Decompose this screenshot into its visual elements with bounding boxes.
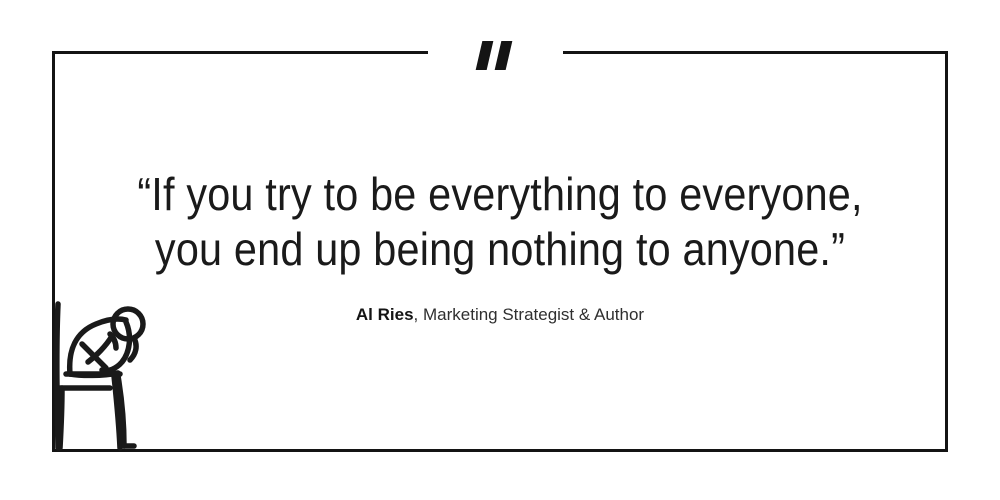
frame-border-top-right <box>563 51 948 54</box>
seated-thinking-person-icon <box>48 296 168 452</box>
figure-thigh <box>70 373 118 375</box>
double-quote-mark-icon <box>470 38 530 74</box>
chair-rear-leg <box>60 388 62 448</box>
attribution-author-name: Al Ries <box>356 305 414 324</box>
quote-text: “If you try to be everything to everyone… <box>50 167 950 277</box>
attribution-author-role: Marketing Strategist & Author <box>423 305 644 324</box>
figure-forearm-left <box>88 336 112 362</box>
frame-border-bottom <box>52 449 948 452</box>
quote-bar-left <box>476 41 494 70</box>
attribution-separator: , <box>414 305 423 324</box>
quote-bar-right <box>495 41 513 70</box>
chair-back-post <box>57 304 58 448</box>
quote-card: “If you try to be everything to everyone… <box>0 0 1000 500</box>
frame-border-top-left <box>52 51 428 54</box>
